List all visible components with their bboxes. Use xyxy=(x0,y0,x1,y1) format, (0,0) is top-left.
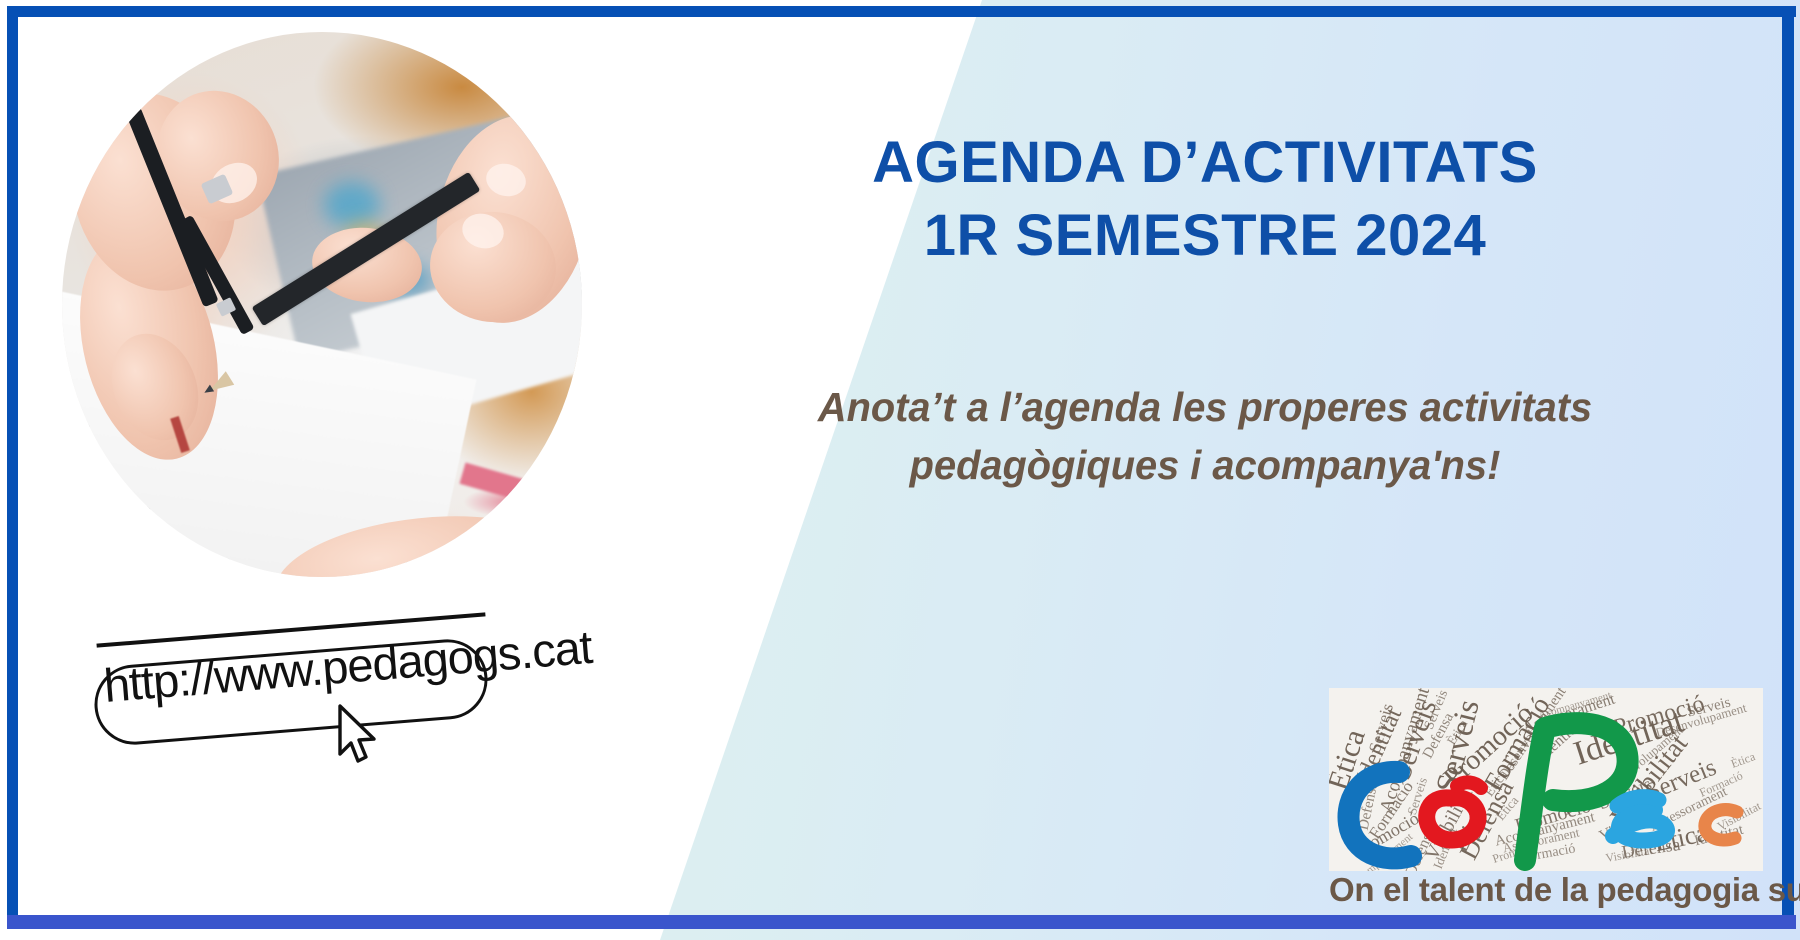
page-title-line-1: AGENDA D’ACTIVITATS xyxy=(700,126,1710,199)
logo-cloud-word: Ètica xyxy=(1729,750,1756,770)
frame-left-border xyxy=(7,6,18,926)
frame-right-border xyxy=(1782,6,1794,926)
page-subtitle-line-1: Anota’t a l’agenda les properes activita… xyxy=(676,378,1733,436)
website-url-graphic[interactable]: http://www.pedagogs.cat xyxy=(88,622,508,792)
copec-logo[interactable]: ÈticaServeisIdentitatServeisAcompanyamen… xyxy=(1329,688,1763,910)
tablet-color-blob xyxy=(324,182,380,228)
poster-canvas: AGENDA D’ACTIVITATS 1R SEMESTRE 2024 Ano… xyxy=(0,0,1800,940)
calendar-photo xyxy=(62,32,582,577)
frame-bottom-border xyxy=(7,915,1796,929)
page-subtitle: Anota’t a l’agenda les properes activita… xyxy=(676,378,1733,494)
page-title: AGENDA D’ACTIVITATS 1R SEMESTRE 2024 xyxy=(700,126,1710,272)
logo-cloud-word: Visibilitat xyxy=(1605,844,1654,864)
page-title-line-2: 1R SEMESTRE 2024 xyxy=(700,199,1710,272)
logo-word-cloud: ÈticaServeisIdentitatServeisAcompanyamen… xyxy=(1329,688,1763,871)
logo-tagline: On el talent de la pedagogia suma! xyxy=(1329,871,1763,909)
page-subtitle-line-2: pedagògiques i acompanya'ns! xyxy=(676,436,1733,494)
mouse-pointer-icon xyxy=(336,704,380,764)
frame-top-border xyxy=(7,6,1796,17)
